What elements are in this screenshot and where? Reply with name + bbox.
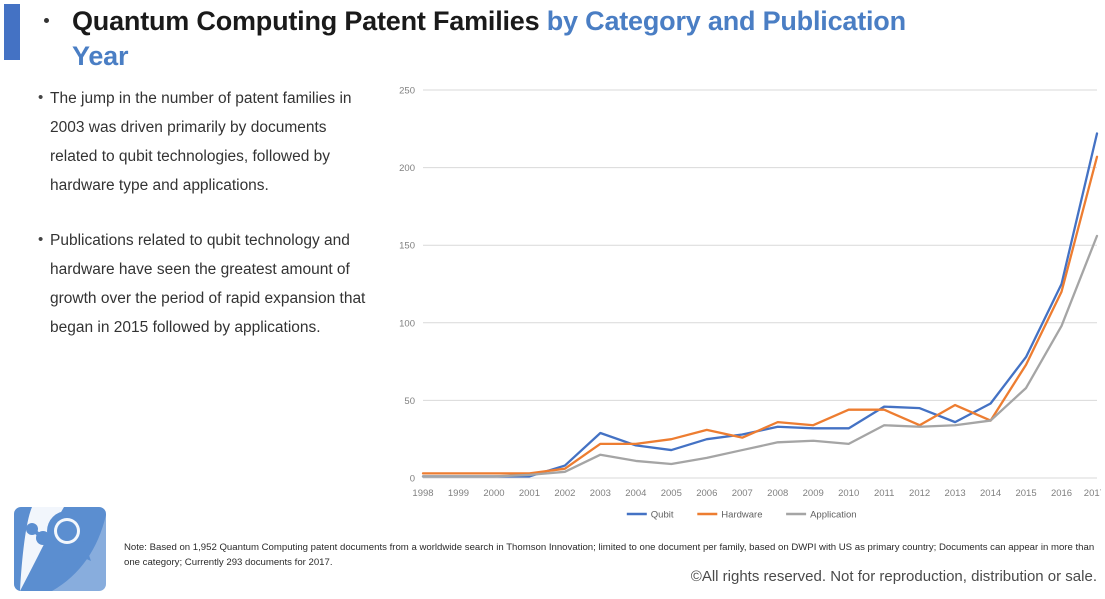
chart-x-tick-label: 2016 <box>1051 488 1072 499</box>
chart-gridlines <box>423 90 1097 478</box>
chart-x-tick-label: 2017p <box>1084 488 1101 499</box>
chart-x-tick-label: 2000 <box>483 488 504 499</box>
bullet-marker: • <box>38 226 50 342</box>
chart-x-tick-label: 2010 <box>838 488 859 499</box>
list-item: • The jump in the number of patent famil… <box>38 84 378 200</box>
chart-x-tick-label: 2015 <box>1015 488 1036 499</box>
chart-x-tick-label: 2012 <box>909 488 930 499</box>
chart-x-tick-label: 1998 <box>412 488 433 499</box>
chart-series-lines <box>423 133 1097 476</box>
chart-legend: QubitHardwareApplication <box>627 510 857 521</box>
chart-x-tick-label: 2006 <box>696 488 717 499</box>
legend-label-hardware: Hardware <box>721 510 762 521</box>
chart-x-tick-label: 2004 <box>625 488 646 499</box>
copyright-text: ©All rights reserved. Not for reproducti… <box>691 568 1097 585</box>
title-bullet-marker <box>44 18 49 23</box>
chart-y-tick-label: 200 <box>399 163 415 174</box>
chart-x-tick-label: 2008 <box>767 488 788 499</box>
logo-icon <box>12 505 108 593</box>
chart-canvas: 050100150200250 199819992000200120022003… <box>383 78 1101 533</box>
page-title-main: Quantum Computing Patent Families <box>72 6 547 36</box>
chart-x-tick-label: 2007 <box>732 488 753 499</box>
page-title: Quantum Computing Patent Families by Cat… <box>40 4 920 73</box>
chart-x-tick-label: 2005 <box>661 488 682 499</box>
chart-x-tick-label: 2002 <box>554 488 575 499</box>
bullet-marker: • <box>38 84 50 200</box>
legend-label-qubit: Qubit <box>651 510 674 521</box>
chart-x-tick-label: 2013 <box>945 488 966 499</box>
chart-x-tick-label: 1999 <box>448 488 469 499</box>
chart-y-tick-label: 250 <box>399 86 415 97</box>
bullet-text: The jump in the number of patent familie… <box>50 84 378 200</box>
footnote-text: Note: Based on 1,952 Quantum Computing p… <box>124 540 1099 570</box>
chart-y-tick-label: 150 <box>399 241 415 252</box>
chart-x-tick-label: 2014 <box>980 488 1001 499</box>
bullet-list: • The jump in the number of patent famil… <box>38 84 378 368</box>
chart-x-tick-label: 2009 <box>803 488 824 499</box>
chart-series-application <box>423 236 1097 477</box>
list-item: • Publications related to qubit technolo… <box>38 226 378 342</box>
bullet-text: Publications related to qubit technology… <box>50 226 378 342</box>
chart-series-hardware <box>423 157 1097 474</box>
chart-y-tick-label: 50 <box>404 396 415 407</box>
legend-label-application: Application <box>810 510 856 521</box>
chart-x-tick-label: 2001 <box>519 488 540 499</box>
chart-y-tick-label: 100 <box>399 318 415 329</box>
chart-y-tick-labels: 050100150200250 <box>399 86 415 485</box>
chart-x-tick-label: 2011 <box>874 488 894 499</box>
title-accent-bar <box>4 4 20 60</box>
chart-series-qubit <box>423 133 1097 476</box>
chart-x-tick-labels: 1998199920002001200220032004200520062007… <box>412 488 1101 499</box>
line-chart: 050100150200250 199819992000200120022003… <box>383 78 1101 533</box>
organization-logo <box>12 505 108 593</box>
chart-x-tick-label: 2003 <box>590 488 611 499</box>
title-block: Quantum Computing Patent Families by Cat… <box>40 4 920 73</box>
chart-y-tick-label: 0 <box>410 474 415 485</box>
